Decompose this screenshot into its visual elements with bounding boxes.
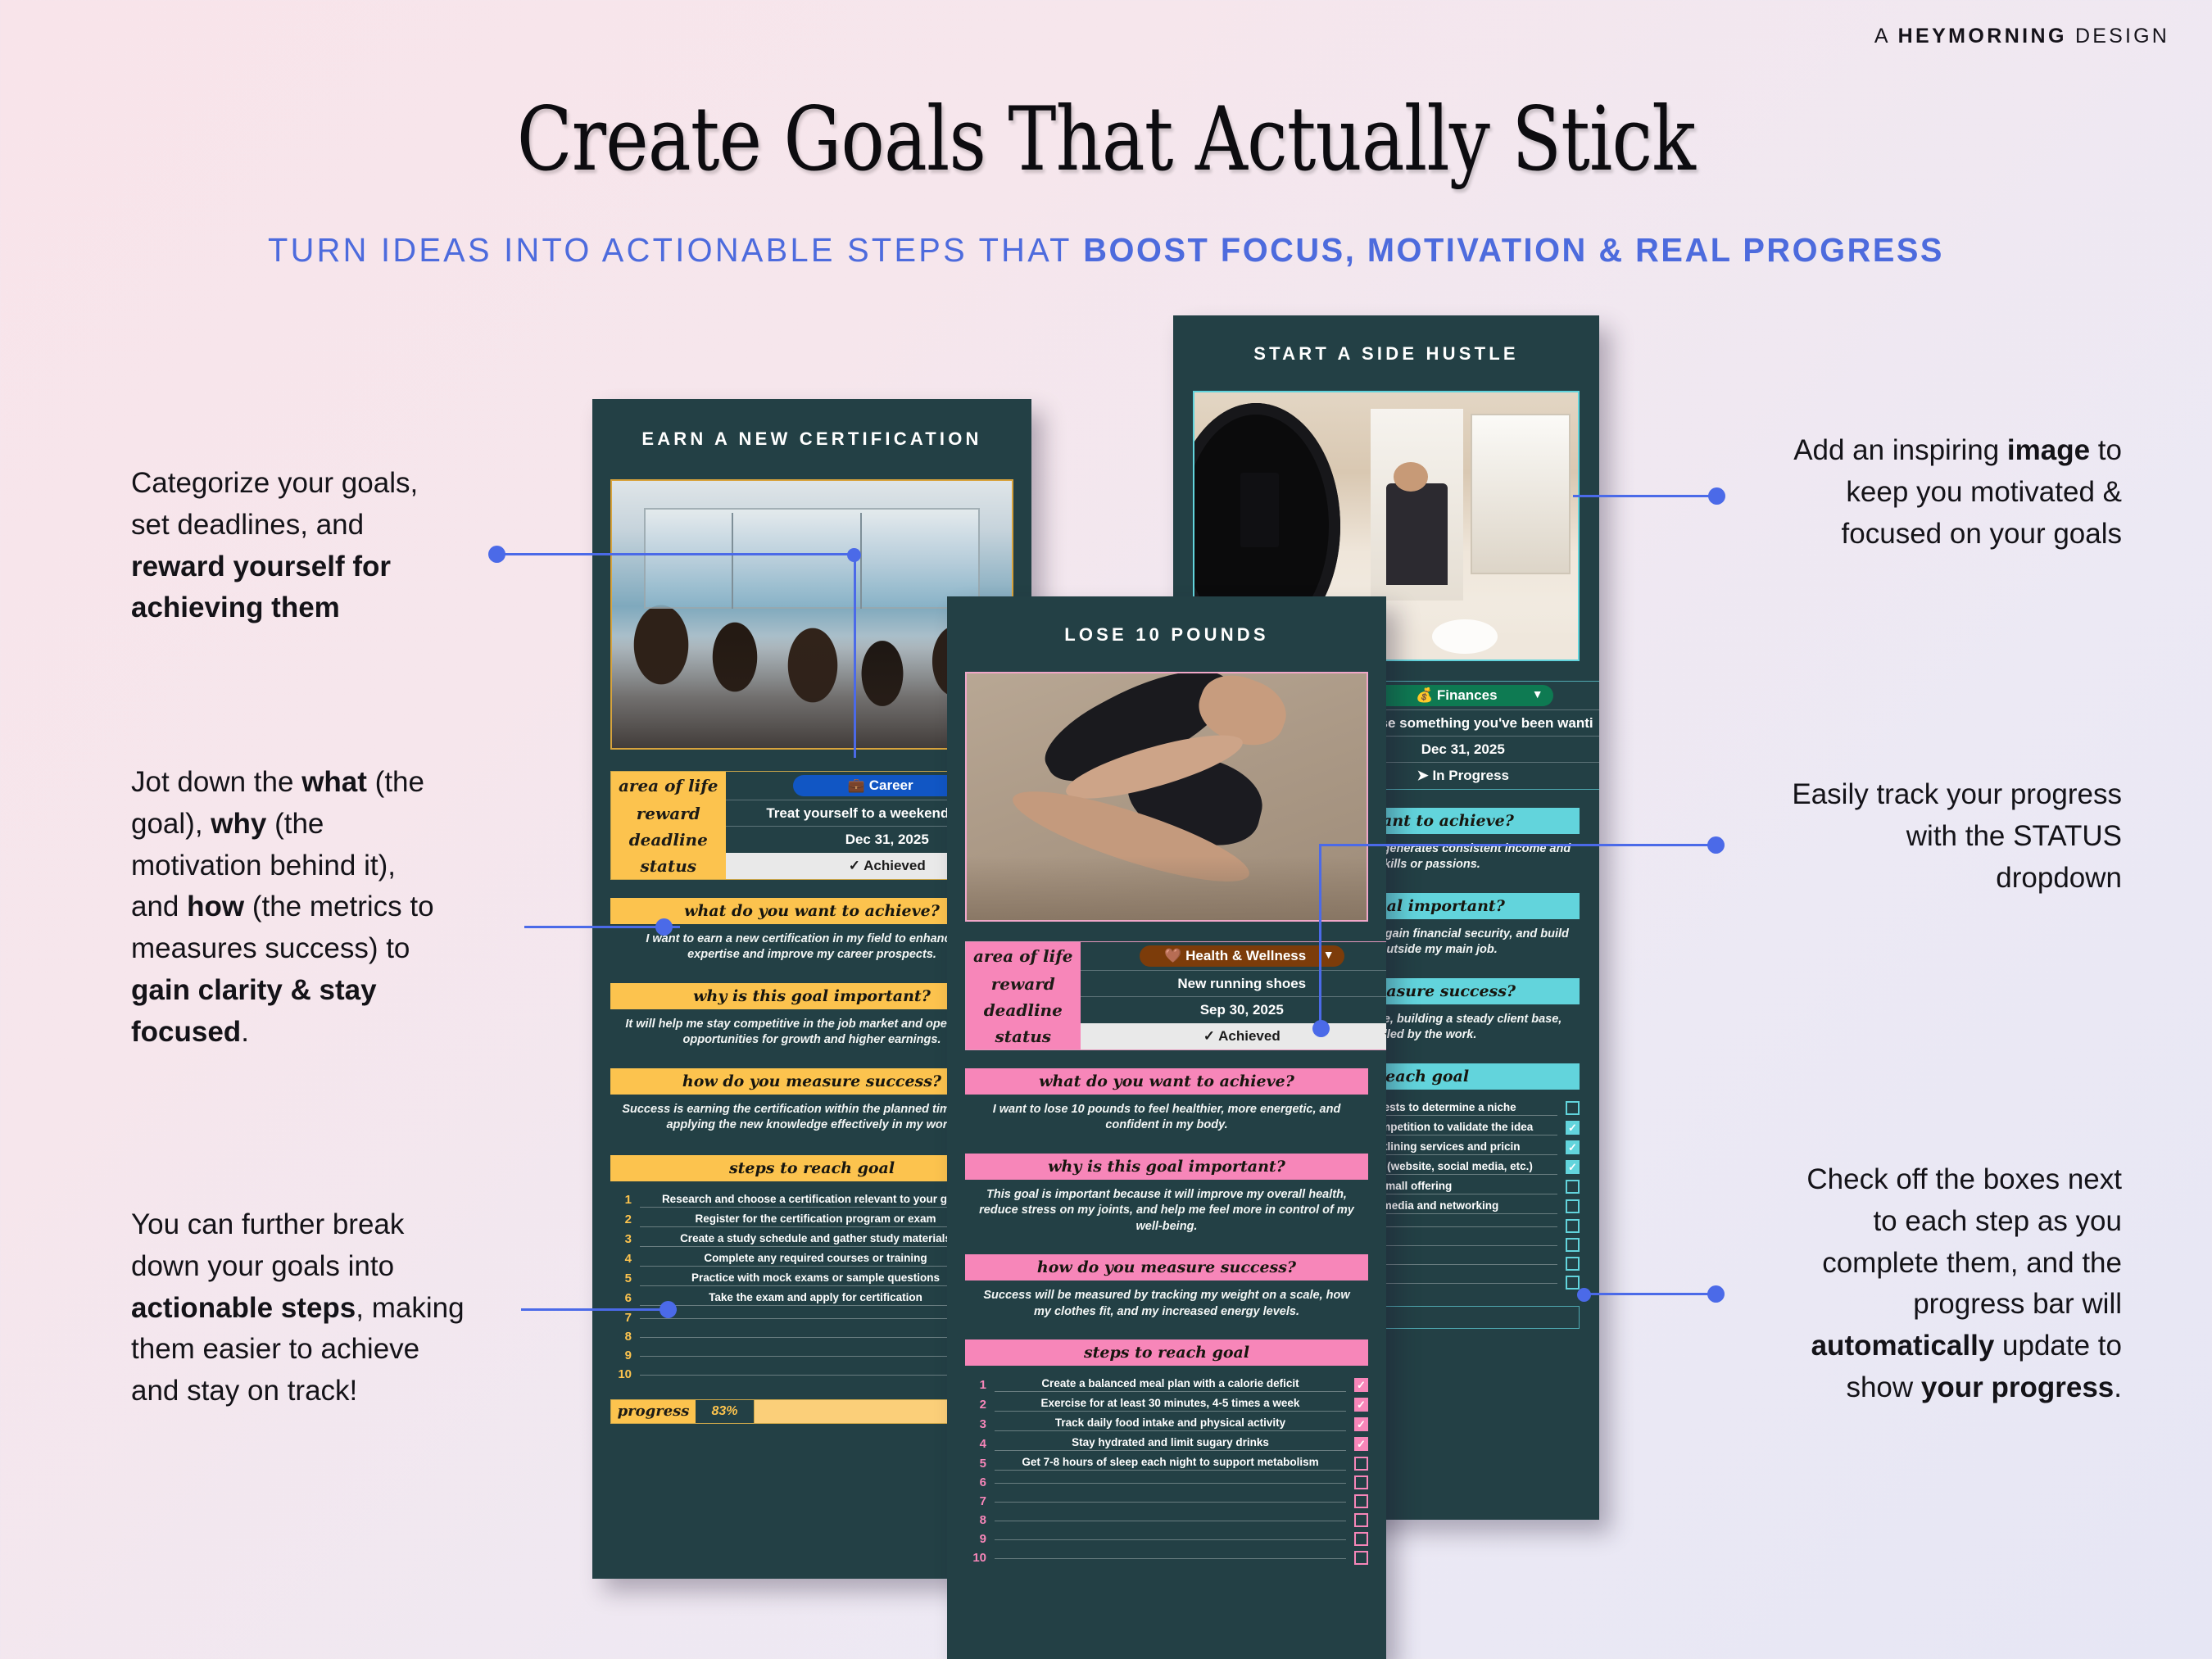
step-number: 3	[965, 1417, 986, 1431]
section-head-why: why is this goal important?	[965, 1154, 1368, 1180]
page-title: Create Goals That Actually Stick	[199, 88, 2013, 191]
step-number: 5	[610, 1271, 632, 1285]
checkbox-checked-icon[interactable]: ✓	[1354, 1437, 1368, 1451]
step-text[interactable]	[640, 1354, 991, 1357]
section-how: how do you measure success? Success will…	[965, 1254, 1368, 1320]
goal-sections-weight: what do you want to achieve? I want to l…	[965, 1068, 1368, 1321]
step-text[interactable]: Complete any required courses or trainin…	[640, 1252, 991, 1267]
brand-prefix: A	[1874, 25, 1898, 48]
annotation-what-why-how: Jot down the what (thegoal), why (themot…	[131, 762, 508, 1053]
step-text[interactable]	[995, 1538, 1346, 1540]
step-row[interactable]: 3Track daily food intake and physical ac…	[965, 1416, 1368, 1431]
steps-list-weight: 1Create a balanced meal plan with a calo…	[965, 1377, 1368, 1565]
step-text[interactable]: Track daily food intake and physical act…	[995, 1416, 1346, 1431]
chevron-down-icon: ▼	[1323, 948, 1335, 961]
step-number: 2	[610, 1213, 632, 1226]
steps-block-weight: steps to reach goal 1Create a balanced m…	[965, 1339, 1368, 1565]
check-glyph: ✓	[1356, 1419, 1367, 1430]
progress-fill-certification	[755, 1400, 968, 1423]
checkbox-checked-icon[interactable]: ✓	[1566, 1121, 1580, 1135]
chevron-down-icon	[1385, 1033, 1386, 1040]
connector-dot-actionable	[660, 1301, 677, 1318]
connector-line-categorize	[494, 553, 854, 555]
meta-row-reward[interactable]: reward New running shoes	[966, 971, 1387, 997]
step-number: 10	[610, 1367, 632, 1381]
card-title-weight: LOSE 10 POUNDS	[947, 624, 1386, 646]
step-row[interactable]: 5Get 7-8 hours of sleep each night to su…	[965, 1456, 1368, 1471]
goal-card-weight[interactable]: LOSE 10 POUNDS area of life 🤎 Health & W…	[947, 596, 1386, 1659]
steps-head-weight: steps to reach goal	[965, 1339, 1368, 1366]
checkbox-unchecked-icon[interactable]	[1354, 1513, 1368, 1527]
section-head-how: how do you measure success?	[965, 1254, 1368, 1281]
step-text[interactable]	[640, 1373, 991, 1376]
connector-vertical-status	[1319, 844, 1321, 1027]
checkbox-unchecked-icon[interactable]	[1566, 1101, 1580, 1115]
checkbox-checked-icon[interactable]: ✓	[1354, 1398, 1368, 1412]
brand-name: HEYMORNING	[1898, 25, 2067, 48]
step-number: 4	[965, 1437, 986, 1451]
checkbox-unchecked-icon[interactable]	[1354, 1551, 1368, 1565]
meta-label-status: status	[611, 853, 726, 880]
step-text[interactable]	[995, 1500, 1346, 1503]
meta-row-area-of-life[interactable]: area of life 🤎 Health & Wellness ▼	[966, 942, 1387, 971]
step-number: 8	[965, 1513, 986, 1527]
connector-line-image	[1573, 495, 1719, 497]
step-row[interactable]: 7	[965, 1494, 1368, 1508]
check-glyph: ✓	[1356, 1380, 1367, 1390]
subtitle-normal: TURN IDEAS INTO ACTIONABLE STEPS THAT	[268, 231, 1083, 269]
checkbox-unchecked-icon[interactable]	[1566, 1238, 1580, 1252]
meta-label-reward: reward	[966, 971, 1081, 997]
progress-percent-certification: 83%	[696, 1400, 755, 1423]
check-glyph: ✓	[1356, 1439, 1367, 1449]
section-body-how[interactable]: Success will be measured by tracking my …	[965, 1281, 1368, 1320]
step-text[interactable]: Get 7-8 hours of sleep each night to sup…	[995, 1456, 1346, 1471]
meta-row-deadline[interactable]: deadline Sep 30, 2025	[966, 997, 1387, 1023]
meta-label-area-of-life: area of life	[611, 772, 726, 800]
step-number: 10	[965, 1551, 986, 1565]
check-glyph: ✓	[1567, 1142, 1578, 1153]
step-number: 2	[965, 1398, 986, 1412]
goal-photo-weight	[965, 672, 1368, 922]
step-text[interactable]: Create a study schedule and gather study…	[640, 1232, 991, 1247]
chevron-down-icon: ▼	[1532, 687, 1543, 700]
step-number: 6	[610, 1291, 632, 1305]
check-glyph: ✓	[1356, 1399, 1367, 1410]
check-glyph: ✓	[1567, 1162, 1578, 1172]
connector-endpoint-status	[1312, 1020, 1330, 1037]
step-number: 9	[610, 1349, 632, 1362]
section-what: what do you want to achieve? I want to l…	[965, 1068, 1368, 1134]
checkbox-checked-icon[interactable]: ✓	[1566, 1160, 1580, 1174]
step-number: 1	[610, 1193, 632, 1207]
status-dropdown-weight[interactable]: ✓ Achieved	[1081, 1023, 1387, 1050]
checkbox-unchecked-icon[interactable]	[1354, 1532, 1368, 1546]
connector-vertical-categorize	[854, 553, 856, 758]
checkbox-unchecked-icon[interactable]	[1566, 1199, 1580, 1213]
annotation-status-dropdown: Easily track your progresswith the STATU…	[1704, 774, 2122, 899]
step-row[interactable]: 1Create a balanced meal plan with a calo…	[965, 1377, 1368, 1392]
meta-label-deadline: deadline	[966, 997, 1081, 1023]
step-text[interactable]: Stay hydrated and limit sugary drinks	[995, 1436, 1346, 1451]
checkbox-checked-icon[interactable]: ✓	[1354, 1378, 1368, 1392]
brand-credit: A HEYMORNING DESIGN	[1874, 25, 2169, 48]
connector-endpoint-checkboxes	[1577, 1288, 1591, 1302]
step-text[interactable]: Exercise for at least 30 minutes, 4-5 ti…	[995, 1397, 1346, 1412]
checkbox-checked-icon[interactable]: ✓	[1354, 1417, 1368, 1431]
step-text[interactable]: Create a balanced meal plan with a calor…	[995, 1377, 1346, 1392]
checkbox-unchecked-icon[interactable]	[1354, 1494, 1368, 1508]
meta-label-status: status	[966, 1023, 1081, 1050]
step-number: 7	[965, 1494, 986, 1508]
step-number: 7	[610, 1311, 632, 1325]
checkbox-unchecked-icon[interactable]	[1566, 1257, 1580, 1271]
connector-line-checkboxes	[1583, 1293, 1722, 1295]
step-number: 4	[610, 1252, 632, 1266]
meta-label-deadline: deadline	[611, 827, 726, 853]
connector-line-status	[1319, 844, 1722, 846]
step-number: 5	[965, 1457, 986, 1471]
step-text[interactable]: Register for the certification program o…	[640, 1213, 991, 1227]
meta-value-deadline[interactable]: Sep 30, 2025	[1081, 997, 1387, 1023]
checkbox-unchecked-icon[interactable]	[1566, 1219, 1580, 1233]
area-of-life-dropdown-weight[interactable]: 🤎 Health & Wellness	[1140, 945, 1344, 967]
step-number: 3	[610, 1232, 632, 1246]
annotation-inspiring-image: Add an inspiring image tokeep you motiva…	[1704, 430, 2122, 555]
meta-value-area-of-life[interactable]: 🤎 Health & Wellness ▼	[1081, 942, 1387, 971]
page-subtitle: TURN IDEAS INTO ACTIONABLE STEPS THAT BO…	[34, 231, 2179, 270]
step-number: 8	[610, 1330, 632, 1344]
step-number: 6	[965, 1475, 986, 1489]
progress-label-certification: progress	[611, 1400, 696, 1423]
card-title-certification: EARN A NEW CERTIFICATION	[592, 428, 1031, 450]
annotation-checkboxes: Check off the boxes nextto each step as …	[1704, 1159, 2122, 1409]
step-text[interactable]	[995, 1519, 1346, 1521]
status-value-certification: ✓ Achieved	[849, 858, 926, 873]
step-row[interactable]: 9	[965, 1532, 1368, 1546]
annotation-actionable-steps: You can further breakdown your goals int…	[131, 1204, 524, 1412]
card-title-hustle: START A SIDE HUSTLE	[1173, 343, 1599, 365]
section-head-what: what do you want to achieve?	[965, 1068, 1368, 1095]
step-row[interactable]: 2Exercise for at least 30 minutes, 4-5 t…	[965, 1397, 1368, 1412]
checkbox-unchecked-icon[interactable]	[1354, 1475, 1368, 1489]
step-number: 1	[965, 1378, 986, 1392]
step-text[interactable]: Practice with mock exams or sample quest…	[640, 1271, 991, 1286]
step-text[interactable]	[995, 1481, 1346, 1484]
checkbox-unchecked-icon[interactable]	[1566, 1276, 1580, 1290]
connector-line-actionable	[521, 1308, 677, 1311]
status-value-hustle: ➤ In Progress	[1416, 768, 1509, 783]
step-text[interactable]	[640, 1335, 991, 1338]
step-text[interactable]	[995, 1557, 1346, 1559]
meta-label-reward: reward	[611, 800, 726, 827]
connector-dot-whatwhyhow	[655, 918, 673, 936]
section-why: why is this goal important? This goal is…	[965, 1154, 1368, 1235]
section-body-why[interactable]: This goal is important because it will i…	[965, 1180, 1368, 1235]
step-text[interactable]: Research and choose a certification rele…	[640, 1193, 991, 1208]
step-row[interactable]: 8	[965, 1513, 1368, 1527]
subtitle-bold: BOOST FOCUS, MOTIVATION & REAL PROGRESS	[1083, 231, 1944, 269]
annotation-categorize: Categorize your goals,set deadlines, and…	[131, 463, 500, 629]
step-text[interactable]: Take the exam and apply for certificatio…	[640, 1291, 991, 1306]
status-value-weight: ✓ Achieved	[1203, 1028, 1281, 1044]
check-glyph: ✓	[1567, 1122, 1578, 1133]
meta-value-reward[interactable]: New running shoes	[1081, 971, 1387, 997]
checkbox-unchecked-icon[interactable]	[1566, 1180, 1580, 1194]
step-text[interactable]	[640, 1317, 991, 1319]
section-body-what[interactable]: I want to lose 10 pounds to feel healthi…	[965, 1095, 1368, 1134]
meta-label-area-of-life: area of life	[966, 942, 1081, 971]
step-row[interactable]: 6	[965, 1475, 1368, 1489]
step-row[interactable]: 10	[965, 1551, 1368, 1565]
brand-suffix: DESIGN	[2067, 25, 2169, 48]
area-of-life-dropdown-hustle[interactable]: 💰 Finances	[1373, 685, 1553, 706]
step-row[interactable]: 4Stay hydrated and limit sugary drinks✓	[965, 1436, 1368, 1451]
checkbox-unchecked-icon[interactable]	[1354, 1457, 1368, 1471]
step-number: 9	[965, 1532, 986, 1546]
checkbox-checked-icon[interactable]: ✓	[1566, 1140, 1580, 1154]
